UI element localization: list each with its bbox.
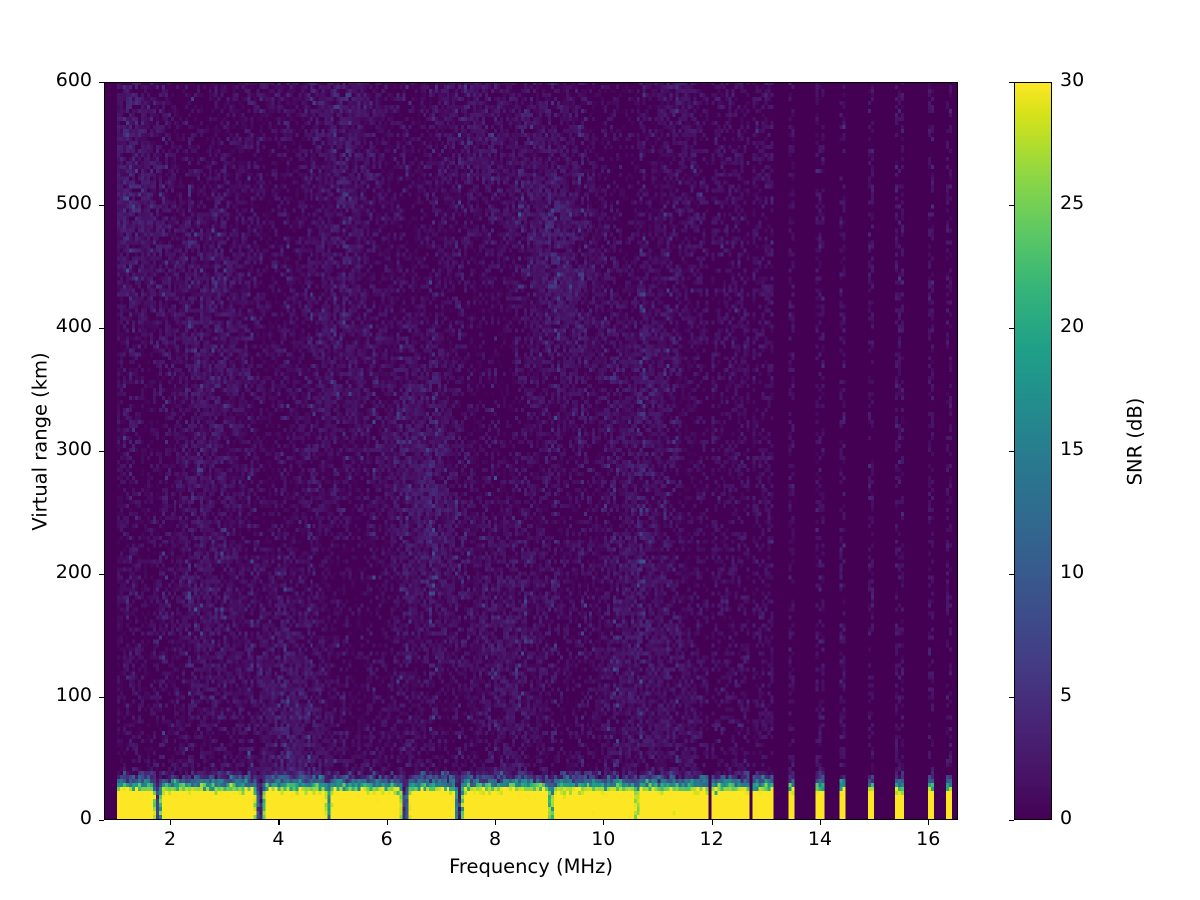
colorbar-tick-mark	[1009, 328, 1014, 329]
colorbar-tick-label: 30	[1060, 69, 1084, 91]
y-tick-mark	[99, 205, 104, 206]
colorbar-tick-label: 25	[1060, 192, 1084, 214]
y-tick-mark	[99, 451, 104, 452]
colorbar-tick-mark	[1009, 574, 1014, 575]
y-tick-label: 0	[20, 807, 92, 829]
colorbar-tick-mark	[1009, 205, 1014, 206]
colorbar-tick-mark	[1009, 820, 1014, 821]
colorbar-label: SNR (dB)	[1124, 242, 1147, 642]
x-tick-mark	[170, 820, 171, 825]
x-tick-label: 8	[465, 828, 525, 850]
x-tick-mark	[387, 820, 388, 825]
x-tick-label: 14	[790, 828, 850, 850]
y-tick-mark	[99, 697, 104, 698]
x-tick-mark	[820, 820, 821, 825]
y-tick-mark	[99, 328, 104, 329]
ionogram-heatmap	[105, 83, 957, 819]
y-tick-label: 500	[20, 192, 92, 214]
x-tick-label: 16	[898, 828, 958, 850]
colorbar-tick-label: 15	[1060, 438, 1084, 460]
y-tick-label: 600	[20, 69, 92, 91]
x-tick-label: 10	[573, 828, 633, 850]
x-tick-mark	[928, 820, 929, 825]
y-axis-label: Virtual range (km)	[29, 242, 52, 642]
colorbar-tick-mark	[1009, 82, 1014, 83]
y-tick-mark	[99, 820, 104, 821]
ionogram-figure: IRF Kiruna Ionosonde KI167 2025-10-14 02…	[0, 0, 1200, 900]
x-tick-label: 12	[682, 828, 742, 850]
colorbar-tick-mark	[1009, 697, 1014, 698]
x-tick-label: 2	[140, 828, 200, 850]
x-tick-label: 4	[248, 828, 308, 850]
colorbar-tick-label: 0	[1060, 807, 1072, 829]
colorbar-tick-label: 20	[1060, 315, 1084, 337]
x-tick-label: 6	[357, 828, 417, 850]
x-tick-mark	[495, 820, 496, 825]
colorbar-gradient	[1014, 82, 1052, 820]
colorbar-tick-mark	[1009, 451, 1014, 452]
x-axis-label: Frequency (MHz)	[104, 855, 958, 878]
x-tick-mark	[712, 820, 713, 825]
y-tick-mark	[99, 574, 104, 575]
y-tick-mark	[99, 82, 104, 83]
heatmap-axes	[104, 82, 958, 820]
x-tick-mark	[603, 820, 604, 825]
colorbar-tick-label: 5	[1060, 684, 1072, 706]
x-tick-mark	[278, 820, 279, 825]
colorbar-tick-label: 10	[1060, 561, 1084, 583]
y-tick-label: 100	[20, 684, 92, 706]
